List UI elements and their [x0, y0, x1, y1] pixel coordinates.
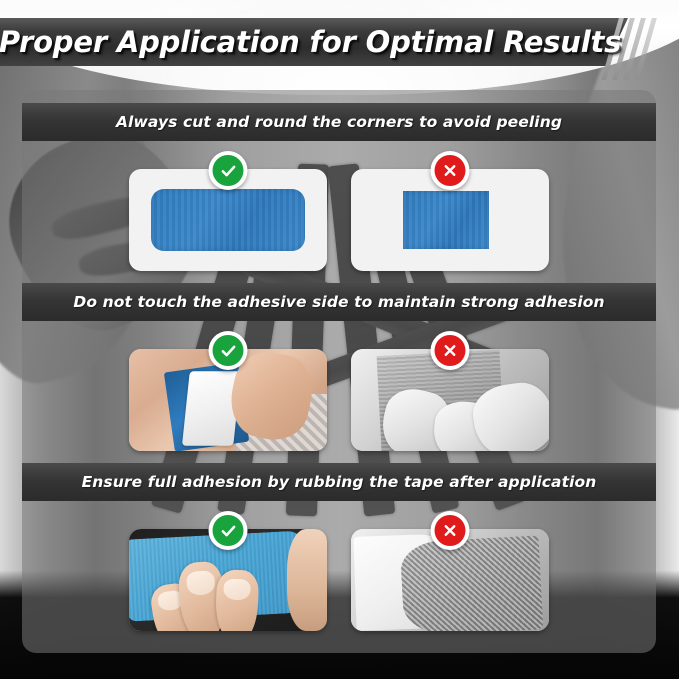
check-badge-1: [209, 151, 248, 190]
section-header-label: Ensure full adhesion by rubbing the tape…: [82, 473, 597, 491]
check-icon: [213, 515, 244, 546]
check-icon: [213, 155, 244, 186]
infographic-root: Proper Application for Optimal Results A…: [0, 0, 679, 679]
section-header-3: Ensure full adhesion by rubbing the tape…: [22, 463, 656, 501]
section-header-label: Do not touch the adhesive side to mainta…: [73, 293, 604, 311]
tape-rounded-corners: [151, 189, 305, 251]
cross-badge-3: [431, 511, 470, 550]
section-header-2: Do not touch the adhesive side to mainta…: [22, 283, 656, 321]
comparison-pair-1: [22, 141, 656, 281]
tape-square-corners: [403, 191, 489, 249]
section-header-1: Always cut and round the corners to avoi…: [22, 103, 656, 141]
good-example-card-2: [129, 349, 327, 451]
check-badge-2: [209, 331, 248, 370]
bad-example-card-2: [351, 349, 549, 451]
skin: [287, 529, 327, 631]
comparison-pair-3: [22, 501, 656, 641]
section-cut-and-round-corners: Always cut and round the corners to avoi…: [22, 103, 656, 281]
good-example-card-1: [129, 169, 327, 271]
bad-example-card-3: [351, 529, 549, 631]
comparison-pair-2: [22, 321, 656, 461]
cross-icon: [435, 335, 466, 366]
finger: [215, 569, 259, 631]
section-rub-tape-after-application: Ensure full adhesion by rubbing the tape…: [22, 463, 656, 643]
page-title: Proper Application for Optimal Results: [0, 18, 620, 66]
lifting-tape: [400, 536, 543, 631]
bad-example-card-1: [351, 169, 549, 271]
fingernail: [224, 578, 251, 600]
cross-badge-1: [431, 151, 470, 190]
check-badge-3: [209, 511, 248, 550]
fingernail: [186, 570, 215, 595]
section-do-not-touch-adhesive: Do not touch the adhesive side to mainta…: [22, 283, 656, 461]
cross-badge-2: [431, 331, 470, 370]
check-icon: [213, 335, 244, 366]
good-example-card-3: [129, 529, 327, 631]
section-header-label: Always cut and round the corners to avoi…: [116, 113, 562, 131]
cross-icon: [435, 515, 466, 546]
cross-icon: [435, 155, 466, 186]
content-panel: Always cut and round the corners to avoi…: [22, 90, 656, 653]
